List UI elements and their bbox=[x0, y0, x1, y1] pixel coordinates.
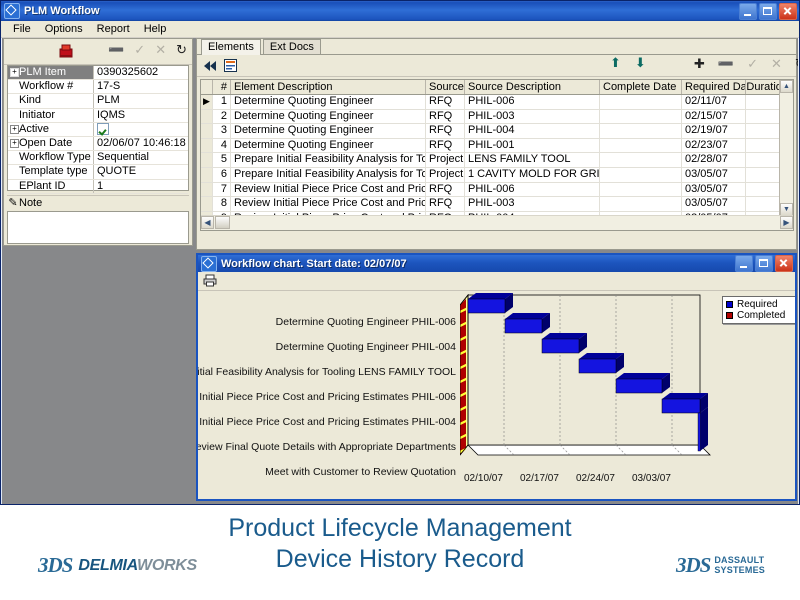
cell-element-description[interactable]: Determine Quoting Engineer bbox=[231, 124, 426, 138]
cell-element-description[interactable]: Prepare Initial Feasibility Analysis for… bbox=[231, 168, 426, 182]
menu-item-report[interactable]: Report bbox=[90, 22, 137, 36]
property-key: Initiator bbox=[19, 109, 55, 121]
cell-required-date[interactable]: 03/05/07 bbox=[682, 168, 746, 182]
table-row[interactable]: 8Review Initial Piece Price Cost and Pri… bbox=[201, 197, 793, 212]
property-value[interactable]: Sequential bbox=[94, 151, 188, 164]
tab-ext-docs[interactable]: Ext Docs bbox=[263, 39, 321, 54]
table-row[interactable]: 3Determine Quoting EngineerRFQPHIL-00402… bbox=[201, 124, 793, 139]
note-input[interactable] bbox=[7, 211, 189, 244]
tabstrip: Elements Ext Docs bbox=[197, 39, 796, 55]
first-record-button[interactable] bbox=[201, 57, 218, 74]
row-selector[interactable] bbox=[201, 139, 213, 153]
list-view-icon[interactable] bbox=[222, 57, 239, 74]
chart-category-label: Meet with Customer to Review Quotation bbox=[265, 466, 456, 478]
cell-source-description[interactable]: 1 CAVITY MOLD FOR GRIL bbox=[465, 168, 600, 182]
table-row[interactable]: ▶1Determine Quoting EngineerRFQPHIL-0060… bbox=[201, 95, 793, 110]
property-value[interactable]: 17-S bbox=[94, 80, 188, 93]
plm-app-icon bbox=[4, 3, 20, 19]
cell-source[interactable]: RFQ bbox=[426, 110, 465, 124]
minimize-button[interactable] bbox=[735, 255, 753, 272]
property-key: EPlant ID bbox=[19, 180, 65, 192]
note-label: Note bbox=[19, 197, 42, 209]
table-row[interactable]: 6Prepare Initial Feasibility Analysis fo… bbox=[201, 168, 793, 183]
legend-label-completed: Completed bbox=[737, 310, 785, 321]
printer-icon[interactable] bbox=[203, 274, 217, 287]
logo-delmia-text: DELMIA bbox=[78, 557, 137, 574]
column-header-complete-date[interactable]: Complete Date bbox=[600, 80, 682, 94]
legend-swatch-completed bbox=[726, 312, 733, 319]
property-grid[interactable]: +PLM Item 0390325602 Workflow # 17-S Kin… bbox=[7, 65, 189, 191]
logo-systemes-text: SYSTEMES bbox=[714, 566, 765, 576]
cell-complete-date[interactable] bbox=[600, 139, 682, 153]
cancel-button[interactable]: ✕ bbox=[155, 44, 166, 57]
property-key: Open Date bbox=[19, 137, 72, 149]
gantt-chart: Determine Quoting Engineer PHIL-006Deter… bbox=[198, 291, 795, 499]
hscroll-thumb[interactable] bbox=[215, 216, 230, 229]
chart-window-controls bbox=[735, 255, 793, 272]
cell-number: 7 bbox=[213, 183, 231, 197]
cell-required-date[interactable]: 03/05/07 bbox=[682, 197, 746, 211]
property-value[interactable]: 0390325602 bbox=[94, 66, 188, 79]
refresh-button[interactable]: ↻ bbox=[176, 44, 187, 57]
refresh-button[interactable]: ↻ bbox=[795, 58, 798, 71]
cell-number: 8 bbox=[213, 197, 231, 211]
menubar: File Options Report Help bbox=[1, 21, 799, 38]
cell-required-date[interactable]: 02/19/07 bbox=[682, 124, 746, 138]
note-header: ✎Note bbox=[7, 195, 189, 211]
expander-icon[interactable]: + bbox=[10, 66, 19, 79]
cell-required-date[interactable]: 02/15/07 bbox=[682, 110, 746, 124]
cell-required-date[interactable]: 02/11/07 bbox=[682, 95, 746, 109]
cell-element-description[interactable]: Determine Quoting Engineer bbox=[231, 95, 426, 109]
property-row-workflow-number[interactable]: Workflow # 17-S bbox=[8, 80, 188, 94]
close-button[interactable] bbox=[779, 3, 797, 20]
cell-element-description[interactable]: Determine Quoting Engineer bbox=[231, 110, 426, 124]
chart-x-tick-label: 02/17/07 bbox=[520, 473, 559, 484]
maximize-button[interactable] bbox=[755, 255, 773, 272]
chart-titlebar: Workflow chart. Start date: 02/07/07 bbox=[198, 255, 795, 272]
maximize-button[interactable] bbox=[759, 3, 777, 20]
property-key: Active bbox=[19, 123, 49, 135]
menu-item-help[interactable]: Help bbox=[137, 22, 174, 36]
cell-number: 4 bbox=[213, 139, 231, 153]
property-key: Template type bbox=[19, 165, 87, 177]
table-row[interactable]: 2Determine Quoting EngineerRFQPHIL-00302… bbox=[201, 110, 793, 125]
column-header-number[interactable]: # bbox=[213, 80, 231, 94]
property-row-kind[interactable]: Kind PLM bbox=[8, 94, 188, 108]
scroll-up-button[interactable]: ▲ bbox=[780, 80, 793, 93]
stamp-icon[interactable] bbox=[58, 43, 74, 59]
menu-item-file[interactable]: File bbox=[6, 22, 38, 36]
window-controls bbox=[739, 3, 797, 20]
property-row-initiator[interactable]: Initiator IQMS bbox=[8, 109, 188, 123]
row-selector[interactable] bbox=[201, 110, 213, 124]
mdi-client-area: ➖ ✓ ✕ ↻ +PLM Item 0390325602 Workflow # … bbox=[2, 38, 798, 504]
scroll-right-button[interactable]: ▶ bbox=[780, 216, 793, 229]
legend-swatch-required bbox=[726, 301, 733, 308]
column-header-source[interactable]: Source bbox=[426, 80, 465, 94]
footer-branding: Product Lifecycle Management Device Hist… bbox=[0, 505, 800, 600]
chart-category-label: Determine Quoting Engineer PHIL-004 bbox=[276, 341, 456, 353]
chart-legend: Required Completed bbox=[722, 296, 795, 324]
cell-required-date[interactable]: 02/23/07 bbox=[682, 139, 746, 153]
chart-toolbar bbox=[198, 272, 795, 291]
cell-complete-date[interactable] bbox=[600, 95, 682, 109]
cell-source-description[interactable]: PHIL-006 bbox=[465, 95, 600, 109]
elements-grid[interactable]: # Element Description Source Source Desc… bbox=[200, 79, 794, 231]
cell-number: 3 bbox=[213, 124, 231, 138]
header-toolbar-actions: ➖ ✓ ✕ ↻ bbox=[108, 44, 187, 57]
move-down-button[interactable]: ⬇ bbox=[635, 58, 646, 70]
cell-complete-date[interactable] bbox=[600, 197, 682, 211]
add-button[interactable]: ✚ bbox=[694, 58, 705, 71]
window-title: PLM Workflow bbox=[24, 5, 739, 17]
cell-source-description[interactable]: LENS FAMILY TOOL bbox=[465, 153, 600, 167]
chart-category-label: Determine Quoting Engineer PHIL-006 bbox=[276, 316, 456, 328]
row-selector[interactable] bbox=[201, 183, 213, 197]
move-up-button[interactable]: ⬆ bbox=[610, 58, 621, 70]
cell-source[interactable]: RFQ bbox=[426, 95, 465, 109]
cell-required-date[interactable]: 03/05/07 bbox=[682, 183, 746, 197]
row-selector[interactable] bbox=[201, 124, 213, 138]
3ds-mark-icon: 3DS bbox=[38, 553, 72, 578]
cell-complete-date[interactable] bbox=[600, 110, 682, 124]
cell-source[interactable]: RFQ bbox=[426, 197, 465, 211]
remove-button[interactable]: ➖ bbox=[108, 44, 124, 57]
property-row-eplant-id[interactable]: EPlant ID 1 bbox=[8, 180, 188, 194]
property-row-plm-item[interactable]: +PLM Item 0390325602 bbox=[8, 66, 188, 80]
dassault-systemes-logo: 3DS DASSAULT SYSTEMES bbox=[676, 553, 765, 578]
expander-icon[interactable]: + bbox=[10, 137, 19, 150]
accept-button[interactable]: ✓ bbox=[134, 44, 145, 57]
plm-workflow-window: PLM Workflow File Options Report Help bbox=[0, 0, 800, 505]
cell-number: 2 bbox=[213, 110, 231, 124]
footer-title-line1: Product Lifecycle Management bbox=[0, 513, 800, 544]
menu-item-options[interactable]: Options bbox=[38, 22, 90, 36]
cell-element-description[interactable]: Review Initial Piece Price Cost and Pric… bbox=[231, 197, 426, 211]
row-selector[interactable] bbox=[201, 153, 213, 167]
note-icon: ✎ bbox=[7, 196, 19, 211]
column-header-source-description[interactable]: Source Description bbox=[465, 80, 600, 94]
legend-item-completed: Completed bbox=[726, 310, 792, 321]
chart-category-label: Review Final Quote Details with Appropri… bbox=[198, 441, 456, 453]
cell-required-date[interactable]: 02/28/07 bbox=[682, 153, 746, 167]
cell-element-description[interactable]: Determine Quoting Engineer bbox=[231, 139, 426, 153]
cell-source[interactable]: RFQ bbox=[426, 139, 465, 153]
legend-item-required: Required bbox=[726, 299, 792, 310]
column-header-element-description[interactable]: Element Description bbox=[231, 80, 426, 94]
cell-source[interactable]: RFQ bbox=[426, 124, 465, 138]
property-value[interactable]: PLM bbox=[94, 94, 188, 107]
chart-category-label: Review Initial Piece Price Cost and Pric… bbox=[198, 416, 456, 428]
cell-number: 1 bbox=[213, 95, 231, 109]
cell-element-description[interactable]: Prepare Initial Feasibility Analysis for… bbox=[231, 153, 426, 167]
row-selector[interactable] bbox=[201, 197, 213, 211]
cell-element-description[interactable]: Review Initial Piece Price Cost and Pric… bbox=[231, 183, 426, 197]
property-row-active[interactable]: +Active bbox=[8, 123, 188, 137]
logo-works-text: WORKS bbox=[137, 557, 197, 574]
cell-complete-date[interactable] bbox=[600, 183, 682, 197]
grid-body: ▶1Determine Quoting EngineerRFQPHIL-0060… bbox=[201, 95, 793, 231]
chart-category-label: Review Initial Piece Price Cost and Pric… bbox=[198, 391, 456, 403]
property-value[interactable]: 1 bbox=[94, 180, 188, 193]
property-key: PLM Item bbox=[19, 66, 66, 78]
table-row[interactable]: 4Determine Quoting EngineerRFQPHIL-00102… bbox=[201, 139, 793, 154]
application-window: PLM Workflow File Options Report Help bbox=[0, 0, 800, 505]
table-row[interactable]: 7Review Initial Piece Price Cost and Pri… bbox=[201, 183, 793, 198]
grid-header-row: # Element Description Source Source Desc… bbox=[201, 80, 793, 95]
expander-icon[interactable]: + bbox=[10, 123, 19, 136]
table-row[interactable]: 5Prepare Initial Feasibility Analysis fo… bbox=[201, 153, 793, 168]
delmiaworks-logo: 3DS DELMIAWORKS bbox=[38, 553, 197, 578]
cell-source-description[interactable]: PHIL-003 bbox=[465, 197, 600, 211]
3ds-mark-icon: 3DS bbox=[676, 553, 710, 578]
chart-x-tick-label: 02/10/07 bbox=[464, 473, 503, 484]
property-key: Kind bbox=[19, 94, 41, 106]
header-toolbar: ➖ ✓ ✕ ↻ bbox=[4, 39, 192, 65]
elements-panel-window: Elements Ext Docs ⬆ ⬇ bbox=[196, 38, 797, 250]
cell-source-description[interactable]: PHIL-001 bbox=[465, 139, 600, 153]
property-key: Workflow # bbox=[19, 80, 73, 92]
active-checkbox[interactable] bbox=[97, 123, 109, 135]
column-header-required-date[interactable]: Required Date bbox=[682, 80, 746, 94]
cell-complete-date[interactable] bbox=[600, 153, 682, 167]
property-value[interactable]: QUOTE bbox=[94, 165, 188, 178]
row-selector[interactable] bbox=[201, 168, 213, 182]
property-row-open-date[interactable]: +Open Date 02/06/07 10:46:18 AM bbox=[8, 137, 188, 151]
cell-number: 6 bbox=[213, 168, 231, 182]
minimize-button[interactable] bbox=[739, 3, 757, 20]
legend-label-required: Required bbox=[737, 299, 778, 310]
header-panel-window: ➖ ✓ ✕ ↻ +PLM Item 0390325602 Workflow # … bbox=[3, 38, 193, 246]
chart-x-tick-label: 03/03/07 bbox=[632, 473, 671, 484]
remove-button[interactable]: ➖ bbox=[718, 58, 734, 71]
chart-plot-area bbox=[460, 293, 720, 471]
chart-category-label: Prepare Initial Feasibility Analysis for… bbox=[198, 366, 456, 378]
grid-vertical-scrollbar[interactable]: ▲ ▼ bbox=[779, 80, 793, 216]
cell-number: 5 bbox=[213, 153, 231, 167]
cell-source-description[interactable]: PHIL-003 bbox=[465, 110, 600, 124]
chart-window-title: Workflow chart. Start date: 02/07/07 bbox=[221, 258, 735, 270]
main-titlebar: PLM Workflow bbox=[1, 1, 799, 21]
workflow-chart-window: Workflow chart. Start date: 02/07/07 bbox=[196, 253, 797, 501]
accept-button[interactable]: ✓ bbox=[747, 58, 758, 71]
property-value[interactable]: 02/06/07 10:46:18 AM bbox=[94, 137, 188, 150]
row-selector[interactable]: ▶ bbox=[201, 95, 213, 109]
cancel-button[interactable]: ✕ bbox=[771, 58, 782, 71]
cell-complete-date[interactable] bbox=[600, 124, 682, 138]
cell-source[interactable]: Project Ma bbox=[426, 168, 465, 182]
cell-complete-date[interactable] bbox=[600, 168, 682, 182]
elements-toolbar: ⬆ ⬇ ✚ ➖ ✓ ✕ ↻ bbox=[197, 55, 796, 77]
property-value[interactable]: IQMS bbox=[94, 109, 188, 122]
cell-source-description[interactable]: PHIL-006 bbox=[465, 183, 600, 197]
grid-horizontal-scrollbar[interactable]: ◀ ▶ bbox=[201, 215, 793, 230]
close-button[interactable] bbox=[775, 255, 793, 272]
cell-source[interactable]: Project Ma bbox=[426, 153, 465, 167]
cell-source[interactable]: RFQ bbox=[426, 183, 465, 197]
chart-window-icon bbox=[201, 256, 217, 272]
property-key: Workflow Type bbox=[19, 151, 91, 163]
property-row-workflow-type[interactable]: Workflow Type Sequential bbox=[8, 151, 188, 165]
scroll-left-button[interactable]: ◀ bbox=[201, 216, 214, 229]
tab-elements[interactable]: Elements bbox=[201, 39, 261, 55]
cell-source-description[interactable]: PHIL-004 bbox=[465, 124, 600, 138]
chart-x-tick-label: 02/24/07 bbox=[576, 473, 615, 484]
property-row-template-type[interactable]: Template type QUOTE bbox=[8, 165, 188, 179]
